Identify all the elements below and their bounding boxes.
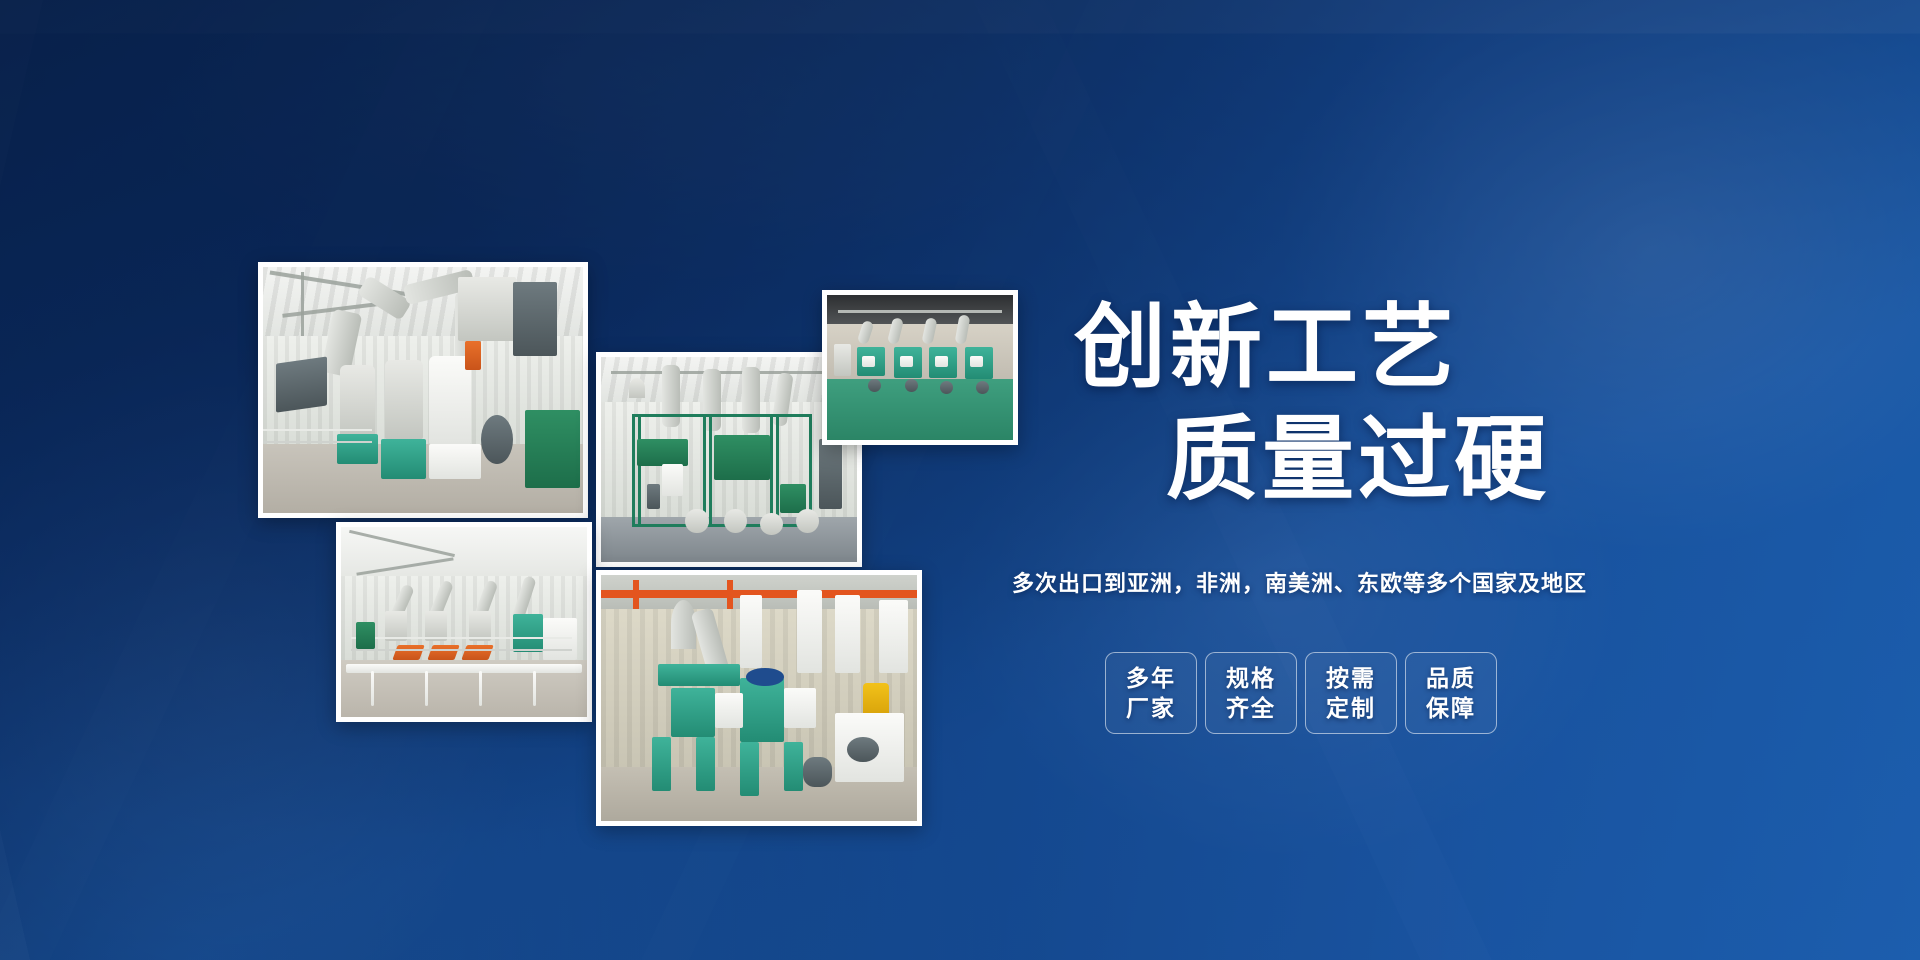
badge-1-top: 多年 — [1126, 663, 1176, 693]
badge-2-bottom: 齐全 — [1226, 693, 1276, 723]
collage-photo-5[interactable] — [596, 570, 922, 826]
collage-photo-3[interactable] — [822, 290, 1018, 445]
photo-1-scene — [263, 267, 583, 513]
badge-3-top: 按需 — [1326, 663, 1376, 693]
feature-badge-2[interactable]: 规格 齐全 — [1205, 652, 1297, 734]
photo-3-scene — [827, 295, 1013, 440]
badge-2-top: 规格 — [1226, 663, 1276, 693]
photo-5-scene — [601, 575, 917, 821]
photo-4-scene — [341, 527, 587, 717]
collage-photo-1[interactable] — [258, 262, 588, 518]
headline-line-1: 创新工艺 — [1074, 292, 1874, 404]
photo-collage — [0, 0, 1060, 960]
feature-badge-1[interactable]: 多年 厂家 — [1105, 652, 1197, 734]
badge-4-bottom: 保障 — [1426, 693, 1476, 723]
headline-line-2: 质量过硬 — [1074, 404, 1874, 516]
hero-content: 创新工艺 质量过硬 多次出口到亚洲，非洲，南美洲、东欧等多个国家及地区 多年 厂… — [1010, 0, 1920, 960]
feature-badge-list: 多年 厂家 规格 齐全 按需 定制 品质 保障 — [1105, 652, 1497, 734]
feature-badge-3[interactable]: 按需 定制 — [1305, 652, 1397, 734]
subtitle: 多次出口到亚洲，非洲，南美洲、东欧等多个国家及地区 — [1012, 566, 1912, 598]
hero-banner: 创新工艺 质量过硬 多次出口到亚洲，非洲，南美洲、东欧等多个国家及地区 多年 厂… — [0, 0, 1920, 960]
badge-1-bottom: 厂家 — [1126, 693, 1176, 723]
photo-2-scene — [601, 357, 857, 562]
feature-badge-4[interactable]: 品质 保障 — [1405, 652, 1497, 734]
badge-4-top: 品质 — [1426, 663, 1476, 693]
collage-photo-4[interactable] — [336, 522, 592, 722]
headline: 创新工艺 质量过硬 — [1074, 292, 1874, 516]
badge-3-bottom: 定制 — [1326, 693, 1376, 723]
